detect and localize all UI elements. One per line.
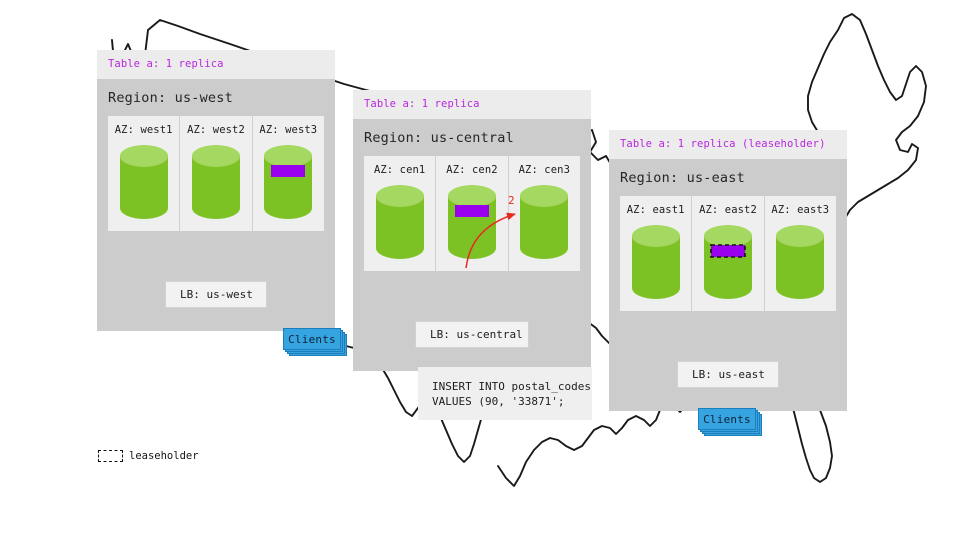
az-cell-east3[interactable]: AZ: east3 <box>765 196 836 311</box>
load-balancer-us-west[interactable]: LB: us-west <box>165 281 267 308</box>
load-balancer-label-us-central: LB: us-central <box>430 328 523 341</box>
replica-banner-us-west: Table a: 1 replica <box>97 50 335 79</box>
clients-button-us-west[interactable]: Clients <box>283 328 345 354</box>
az-label-cen3: AZ: cen3 <box>519 164 570 176</box>
az-label-west3: AZ: west3 <box>259 124 317 136</box>
az-cell-cen1[interactable]: AZ: cen1 <box>364 156 436 271</box>
az-cell-east1[interactable]: AZ: east1 <box>620 196 692 311</box>
replica-banner-us-central: Table a: 1 replica <box>353 90 591 119</box>
node-cylinder-west2[interactable] <box>190 143 242 221</box>
clients-sheet-front[interactable]: Clients <box>283 328 341 350</box>
az-cell-east2[interactable]: AZ: east2 <box>692 196 764 311</box>
az-label-cen1: AZ: cen1 <box>374 164 425 176</box>
clients-label-us-west: Clients <box>288 333 336 346</box>
az-cell-west1[interactable]: AZ: west1 <box>108 116 180 231</box>
az-strip-us-east: AZ: east1 AZ: east2 <box>620 196 836 311</box>
node-cylinder-west3[interactable] <box>262 143 314 221</box>
az-label-east2: AZ: east2 <box>699 204 757 216</box>
load-balancer-label-us-west: LB: us-west <box>180 288 253 301</box>
az-cell-cen2[interactable]: AZ: cen2 <box>436 156 508 271</box>
load-balancer-us-central[interactable]: LB: us-central <box>415 321 529 348</box>
load-balancer-label-us-east: LB: us-east <box>692 368 765 381</box>
load-balancer-us-east[interactable]: LB: us-east <box>677 361 779 388</box>
node-cylinder-east1[interactable] <box>630 223 682 301</box>
node-cylinder-east2[interactable] <box>702 223 754 301</box>
az-cell-west3[interactable]: AZ: west3 <box>253 116 324 231</box>
az-label-east1: AZ: east1 <box>627 204 685 216</box>
az-label-west1: AZ: west1 <box>115 124 173 136</box>
az-label-cen2: AZ: cen2 <box>446 164 497 176</box>
node-cylinder-cen1[interactable] <box>374 183 426 261</box>
region-title-us-east: Region: us-east <box>609 159 847 196</box>
az-cell-cen3[interactable]: AZ: cen3 <box>509 156 580 271</box>
legend-leaseholder: leaseholder <box>98 450 199 462</box>
region-panel-us-west: Table a: 1 replica Region: us-west AZ: w… <box>97 50 335 331</box>
clients-sheet-front[interactable]: Clients <box>698 408 756 430</box>
clients-label-us-east: Clients <box>703 413 751 426</box>
node-cylinder-west1[interactable] <box>118 143 170 221</box>
leaseholder-marker-east2 <box>711 245 745 257</box>
az-label-east3: AZ: east3 <box>771 204 829 216</box>
clients-button-us-east[interactable]: Clients <box>698 408 760 434</box>
sql-statement-box: INSERT INTO postal_codes VALUES (90, '33… <box>418 367 592 420</box>
region-panel-us-central: Table a: 1 replica Region: us-central AZ… <box>353 90 591 371</box>
region-title-us-west: Region: us-west <box>97 79 335 116</box>
legend-label: leaseholder <box>129 450 199 462</box>
node-cylinder-east3[interactable] <box>774 223 826 301</box>
az-strip-us-west: AZ: west1 AZ: west2 <box>108 116 324 231</box>
region-title-us-central: Region: us-central <box>353 119 591 156</box>
replica-banner-us-east: Table a: 1 replica (leaseholder) <box>609 130 847 159</box>
annotation-step-2-label: 2 <box>508 194 515 207</box>
node-cylinder-cen3[interactable] <box>518 183 570 261</box>
node-cylinder-cen2[interactable] <box>446 183 498 261</box>
region-panel-us-east: Table a: 1 replica (leaseholder) Region:… <box>609 130 847 411</box>
az-label-west2: AZ: west2 <box>187 124 245 136</box>
replica-marker-west3 <box>271 165 305 177</box>
leaseholder-swatch-icon <box>98 450 123 462</box>
az-cell-west2[interactable]: AZ: west2 <box>180 116 252 231</box>
diagram-canvas: Table a: 1 replica Region: us-west AZ: w… <box>0 0 960 540</box>
replica-marker-cen2 <box>455 205 489 217</box>
sql-statement-text: INSERT INTO postal_codes VALUES (90, '33… <box>432 380 591 408</box>
az-strip-us-central: AZ: cen1 AZ: cen2 <box>364 156 580 271</box>
